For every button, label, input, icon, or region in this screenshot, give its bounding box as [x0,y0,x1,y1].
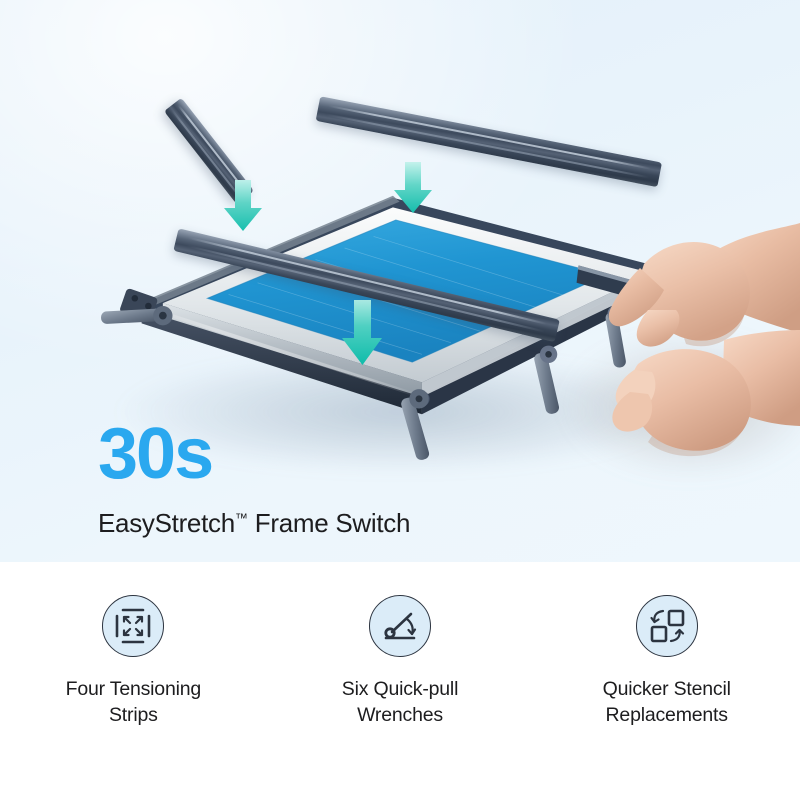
tensioning-strip-top [316,96,662,187]
subtitle-brand: EasyStretch [98,508,235,538]
install-arrow-top [392,160,434,216]
feature-label-line2: Replacements [606,704,728,726]
headline-time-value: 30s [98,418,410,490]
feature-label-line1: Six Quick-pull [342,678,458,700]
feature-label-line1: Four Tensioning [66,678,201,700]
expand-frame-icon [102,595,164,657]
product-feature-page: 30s EasyStretch™ Frame Switch [0,0,800,800]
subtitle-rest: Frame Switch [248,508,410,538]
install-arrow-center [340,298,384,368]
hero-headline-block: 30s EasyStretch™ Frame Switch [98,418,410,539]
hero-panel: 30s EasyStretch™ Frame Switch [0,0,800,562]
headline-subtitle: EasyStretch™ Frame Switch [98,508,410,539]
feature-label-line1: Quicker Stencil [603,678,731,700]
feature-label-quick-pull-wrenches: Six Quick-pull Wrenches [342,677,458,728]
feature-item-tensioning-strips: Four Tensioning Strips [0,595,267,728]
feature-label-line2: Wrenches [357,704,443,726]
hand-lower [604,330,800,510]
feature-label-line2: Strips [109,704,158,726]
feature-label-stencil-replacements: Quicker Stencil Replacements [603,677,731,728]
feature-row: Four Tensioning Strips Six Quick-pull Wr… [0,562,800,800]
install-arrow-left [222,178,264,234]
feature-item-stencil-replacements: Quicker Stencil Replacements [533,595,800,728]
feature-item-quick-pull-wrenches: Six Quick-pull Wrenches [267,595,534,728]
trademark-symbol: ™ [235,510,248,525]
swap-squares-icon [636,595,698,657]
feature-label-tensioning-strips: Four Tensioning Strips [66,677,201,728]
quick-pull-wrench-front-right [533,346,560,415]
lever-wrench-icon [369,595,431,657]
